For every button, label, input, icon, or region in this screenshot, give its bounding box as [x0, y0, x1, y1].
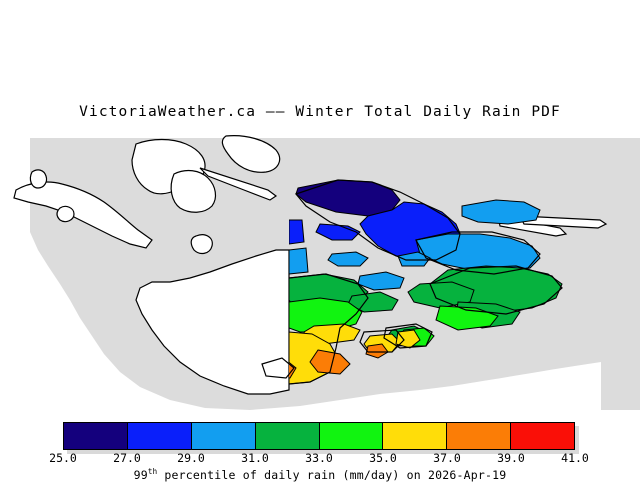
page-title: VictoriaWeather.ca —— Winter Total Daily…	[0, 104, 640, 120]
colorbar-segment-1[interactable]	[128, 423, 192, 449]
colorbar-tick-2: 29.0	[177, 451, 205, 465]
weather-map-page: VictoriaWeather.ca —— Winter Total Daily…	[0, 0, 640, 480]
caption-superscript: th	[148, 467, 157, 476]
colorbar-tick-7: 39.0	[497, 451, 525, 465]
contour-region-27-29-c	[289, 220, 304, 244]
map-canvas[interactable]	[0, 132, 640, 414]
colorbar-segment-6[interactable]	[447, 423, 511, 449]
colorbar-segment-4[interactable]	[320, 423, 384, 449]
colorbar-segment-5[interactable]	[383, 423, 447, 449]
colorbar-segment-0[interactable]	[64, 423, 128, 449]
islet-b	[57, 206, 74, 221]
colorbar-tick-3: 31.0	[241, 451, 269, 465]
colorbar: 25.027.029.031.033.035.037.039.041.0 99t…	[0, 418, 640, 480]
colorbar-segment-3[interactable]	[256, 423, 320, 449]
colorbar-segment-7[interactable]	[511, 423, 574, 449]
islet-a	[30, 170, 46, 188]
colorbar-ticks: 25.027.029.031.033.035.037.039.041.0	[0, 451, 640, 466]
map-panel[interactable]	[0, 132, 640, 414]
colorbar-tick-1: 27.0	[113, 451, 141, 465]
colorbar-strip[interactable]	[63, 422, 575, 450]
contour-region-29-31-b	[462, 200, 540, 224]
colorbar-tick-4: 33.0	[305, 451, 333, 465]
south-bay-1	[191, 235, 212, 254]
colorbar-tick-6: 37.0	[433, 451, 461, 465]
colorbar-tick-0: 25.0	[49, 451, 77, 465]
colorbar-tick-8: 41.0	[561, 451, 589, 465]
colorbar-segment-2[interactable]	[192, 423, 256, 449]
colorbar-tick-5: 35.0	[369, 451, 397, 465]
contour-region-29-31-d	[289, 248, 308, 274]
